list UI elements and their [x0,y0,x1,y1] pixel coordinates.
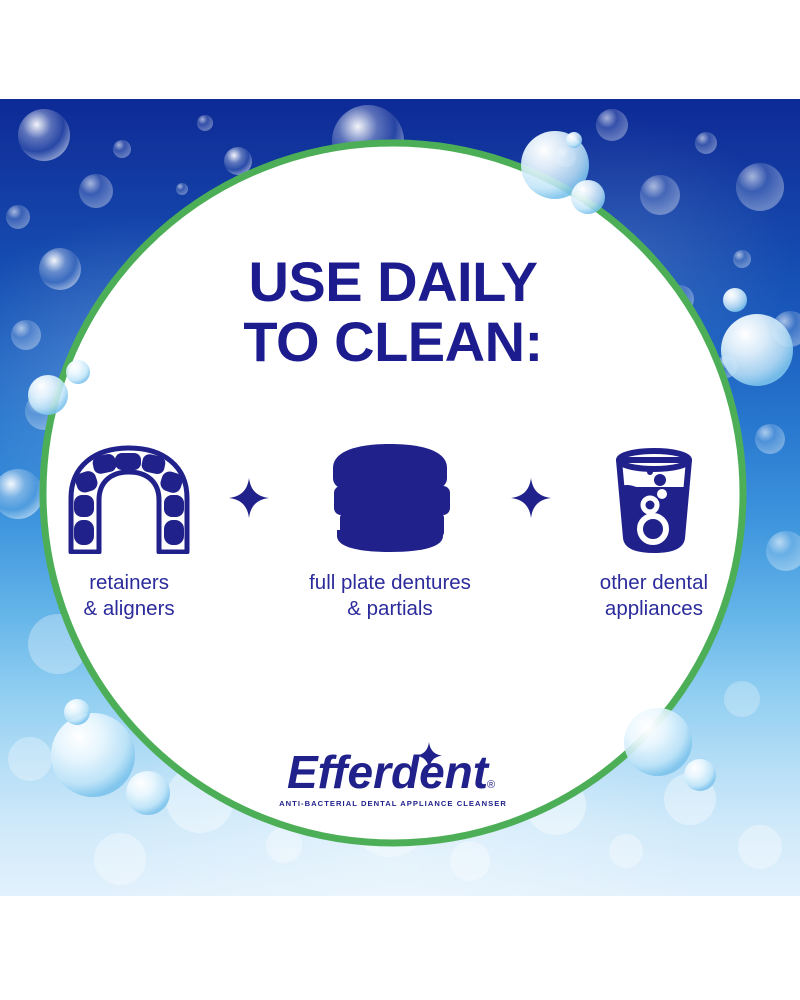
four-point-sparkle-icon [500,440,562,556]
brand-logo: Efferdent ® ANTI-BACTERIAL DENTAL APPLIA… [40,740,746,808]
use-case-dentures: full plate dentures & partials [280,440,500,622]
efferdent-text: Efferdent [287,746,490,796]
use-case-label: other dental appliances [600,570,708,622]
headline-line-2: TO CLEAN: [40,312,746,372]
headline-line-1: USE DAILY [248,250,537,313]
use-case-retainers: retainers & aligners [40,440,218,622]
use-case-other-appliances: other dental appliances [562,440,746,622]
efferdent-wordmark: Efferdent ® [287,740,499,796]
four-point-sparkle-icon [218,440,280,556]
use-case-label: retainers & aligners [83,570,174,622]
page-title: USE DAILY TO CLEAN: [40,252,746,372]
brand-tagline: ANTI-BACTERIAL DENTAL APPLIANCE CLEANSER [40,799,746,808]
circle-content: USE DAILY TO CLEAN: [40,140,746,846]
registered-mark: ® [487,779,495,791]
dental-retainer-icon [63,440,195,556]
glass-of-water-with-bubbles-icon [606,440,702,556]
use-cases-row: retainers & aligners [40,440,746,622]
full-denture-teeth-icon [327,440,453,556]
advertisement-canvas: USE DAILY TO CLEAN: [0,0,800,1000]
use-case-label: full plate dentures & partials [309,570,471,622]
